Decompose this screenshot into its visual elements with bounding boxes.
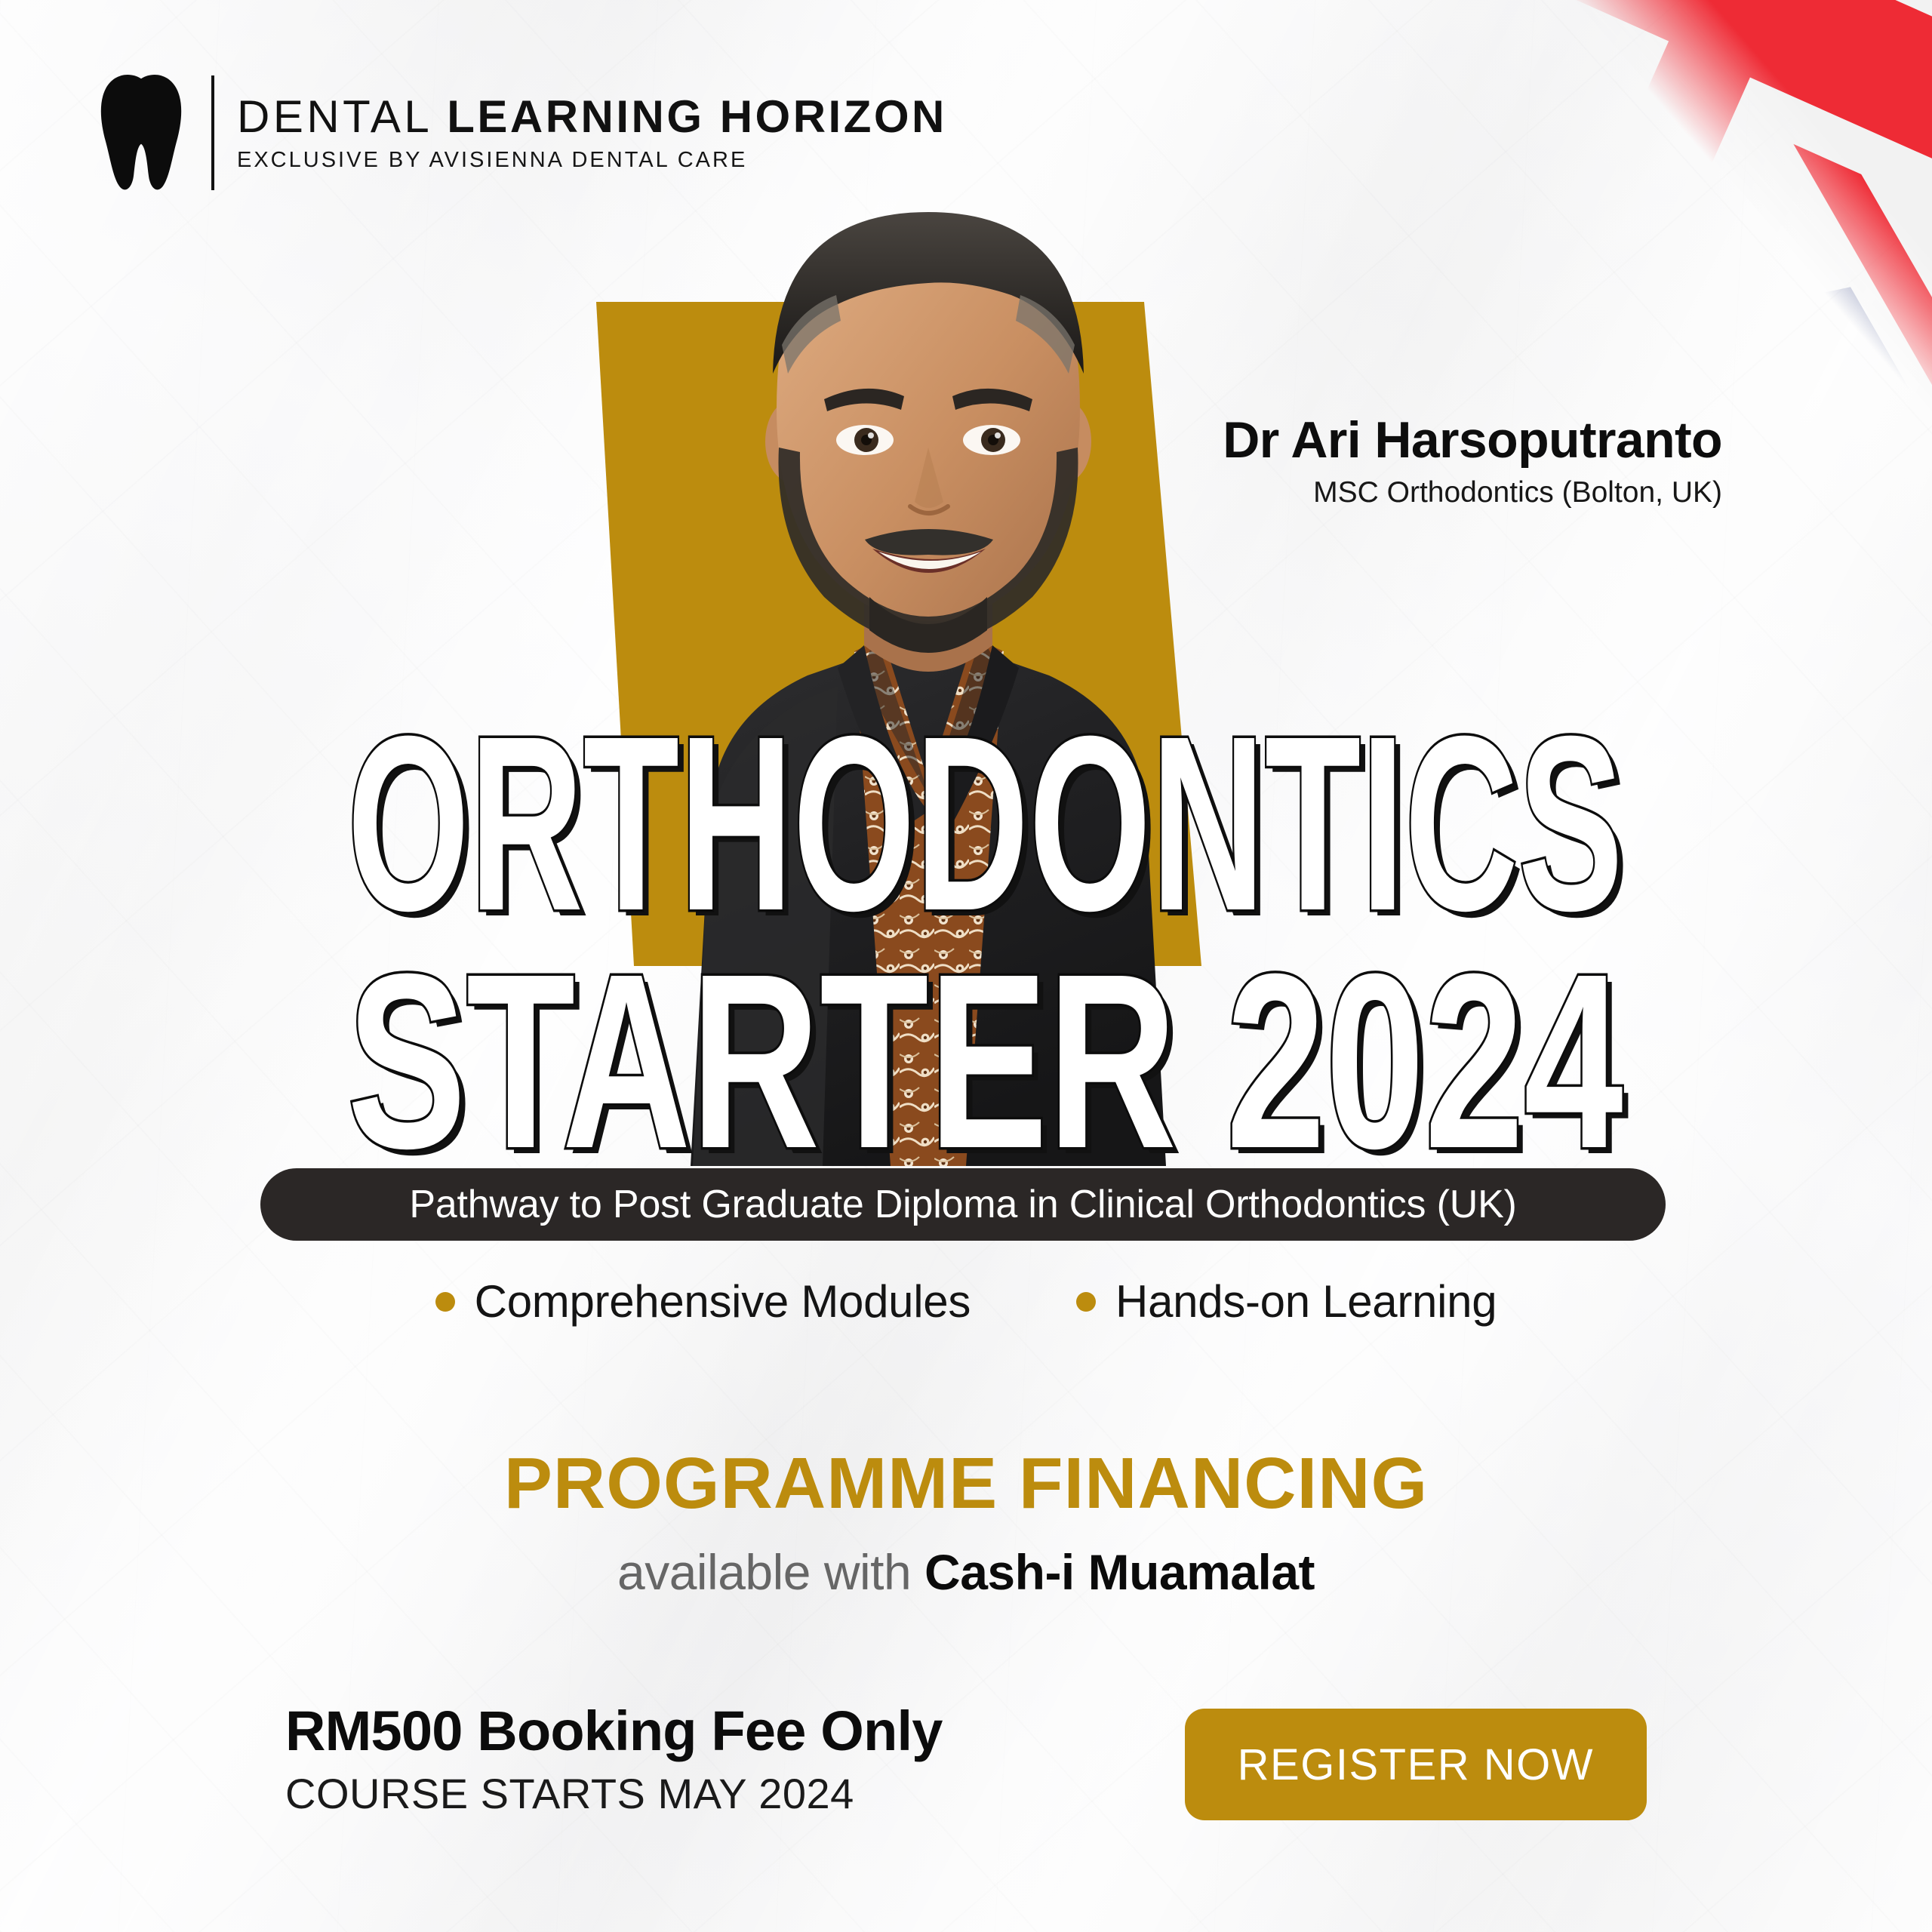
booking-fee-text: RM500 Booking Fee Only: [285, 1702, 943, 1761]
financing-provider: Cash-i Muamalat: [924, 1544, 1315, 1600]
speaker-name: Dr Ari Harsoputranto: [1223, 414, 1722, 467]
feature-label: Comprehensive Modules: [475, 1275, 971, 1327]
pricing-block: RM500 Booking Fee Only COURSE STARTS MAY…: [285, 1702, 943, 1817]
bullet-dot-icon: [435, 1292, 455, 1312]
speaker-credentials: MSC Orthodontics (Bolton, UK): [1223, 476, 1722, 509]
brand-name: DENTAL LEARNING HORIZON: [237, 91, 947, 142]
financing-section: PROGRAMME FINANCING available with Cash-…: [0, 1447, 1932, 1597]
speaker-portrait-photo: [483, 147, 1374, 1166]
poster-canvas: DENTAL LEARNING HORIZON EXCLUSIVE BY AVI…: [0, 0, 1932, 1932]
feature-item: Hands-on Learning: [1076, 1275, 1497, 1327]
feature-item: Comprehensive Modules: [435, 1275, 971, 1327]
cta-row: RM500 Booking Fee Only COURSE STARTS MAY…: [285, 1698, 1647, 1820]
register-now-button[interactable]: REGISTER NOW: [1185, 1709, 1647, 1820]
logo-divider: [211, 75, 214, 190]
subtitle-text: Pathway to Post Graduate Diploma in Clin…: [409, 1182, 1516, 1227]
tooth-icon: [97, 72, 186, 192]
course-start-text: COURSE STARTS MAY 2024: [285, 1772, 943, 1817]
feature-list: Comprehensive Modules Hands-on Learning: [0, 1275, 1932, 1327]
speaker-info: Dr Ari Harsoputranto MSC Orthodontics (B…: [1223, 414, 1722, 509]
financing-subtitle: available with Cash-i Muamalat: [0, 1547, 1932, 1597]
financing-prefix: available with: [617, 1544, 924, 1600]
feature-label: Hands-on Learning: [1115, 1275, 1497, 1327]
subtitle-bar: Pathway to Post Graduate Diploma in Clin…: [260, 1168, 1666, 1241]
brand-tagline: EXCLUSIVE BY AVISIENNA DENTAL CARE: [237, 148, 947, 173]
financing-title: PROGRAMME FINANCING: [0, 1447, 1932, 1520]
brand-logo: DENTAL LEARNING HORIZON EXCLUSIVE BY AVI…: [97, 72, 947, 192]
bullet-dot-icon: [1076, 1292, 1096, 1312]
